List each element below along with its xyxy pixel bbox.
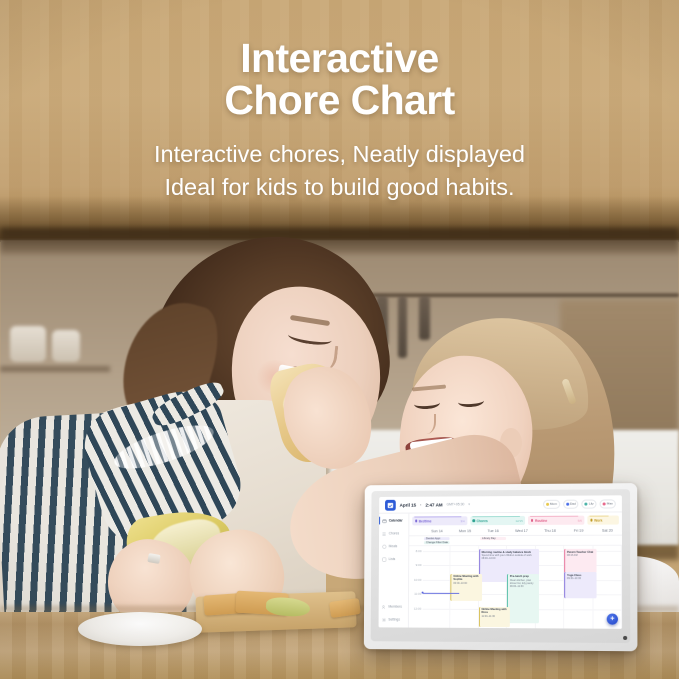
shelf-jar — [10, 326, 46, 362]
event-subtitle: Spend time with your children outside of… — [482, 554, 538, 560]
member-chip-list: MomDadLilyMax — [543, 499, 618, 508]
calendar-icon — [382, 518, 387, 523]
filter-chip-routine[interactable]: Routine5/6 — [528, 516, 584, 525]
sidebar-item-meals[interactable]: Meals — [379, 542, 408, 550]
users-icon — [382, 604, 387, 609]
header-time: 2:47 AM — [425, 502, 442, 507]
chip-label: Chores — [477, 519, 488, 523]
day-column-0[interactable] — [423, 546, 451, 628]
app-header: April 15 · 2:47 AM GMT+05:30 ▾ MomDadLil… — [379, 495, 622, 513]
event-title: Online Meeting with Ross — [481, 608, 508, 615]
member-chip[interactable]: Dad — [563, 499, 579, 508]
member-name: Lily — [589, 502, 594, 506]
chip-count: 5/6 — [578, 518, 582, 522]
header-separator: · — [420, 502, 422, 507]
all-day-cell[interactable] — [564, 536, 593, 545]
filter-chip-row: Bedtime3/4Chores12/15Routine5/6Work — [409, 512, 622, 527]
sidebar-item-label: Chores — [389, 531, 399, 535]
sidebar-item-label: Lists — [389, 557, 396, 561]
header-timezone[interactable]: GMT+05:30 — [447, 502, 465, 506]
all-day-cell[interactable]: Library Day — [479, 536, 507, 545]
event-title: Morning routine & study balance block — [482, 551, 538, 554]
chip-progress-bar — [414, 516, 461, 517]
time-gutter: 8:009:0010:0011:0012:00 — [409, 546, 423, 627]
sidebar-item-label: Members — [388, 605, 401, 609]
calendar-event-1[interactable]: Online Meeting with Sophia09:00–10:00 — [451, 574, 482, 601]
day-header-4[interactable]: Thu 18 — [536, 527, 565, 535]
day-header-5[interactable]: Fri 19 — [564, 527, 593, 535]
hanging-utensil — [419, 296, 430, 340]
calendar-grid[interactable]: 8:009:0010:0011:0012:00 Morning routine … — [409, 546, 622, 629]
day-header-1[interactable]: Mon 15 — [451, 527, 479, 535]
member-color-dot — [546, 502, 549, 505]
member-name: Dad — [570, 502, 576, 506]
day-header-6[interactable]: Sat 20 — [593, 527, 622, 535]
page-subtitle: Interactive chores, Neatly displayed Ide… — [0, 138, 679, 204]
upper-cabinet-band — [0, 228, 679, 254]
chip-color-dot — [472, 519, 475, 522]
all-day-cell[interactable] — [536, 536, 565, 545]
all-day-cell[interactable] — [507, 536, 535, 545]
event-subtitle: 09:30–10:30 — [567, 577, 595, 580]
header-date: April 15 — [400, 502, 416, 507]
chip-count: 3/4 — [460, 519, 464, 523]
all-day-event[interactable]: Library Day — [480, 537, 506, 540]
calendar-event-4[interactable]: Yoga Class09:30–10:30 — [564, 572, 596, 598]
sidebar-item-settings[interactable]: Settings — [379, 615, 408, 623]
calendar-app-icon[interactable] — [385, 499, 396, 510]
member-name: Max — [607, 501, 613, 505]
title-line-1: Interactive — [0, 38, 679, 80]
sidebar-item-lists[interactable]: Lists — [379, 555, 408, 563]
chip-progress-bar — [530, 516, 578, 517]
member-chip[interactable]: Mom — [543, 499, 560, 508]
add-event-button[interactable]: + — [607, 614, 618, 625]
day-header-3[interactable]: Wed 17 — [507, 527, 535, 535]
event-subtitle: 11:00–11:30 — [481, 615, 508, 618]
app-body: CalendarChoresMealsLists MembersSettings… — [379, 512, 623, 628]
gear-icon — [382, 617, 387, 622]
calendar-event-3[interactable]: Parent-Teacher Chat08:15 AM — [564, 549, 596, 573]
plate-icon — [382, 544, 387, 549]
event-subtitle: 08:15 AM — [567, 554, 595, 557]
subtitle-line-2: Ideal for kids to build good habits. — [0, 171, 679, 204]
all-day-cell[interactable] — [593, 536, 622, 545]
promo-image: Interactive Chore Chart Interactive chor… — [0, 0, 679, 679]
filter-chip-work[interactable]: Work — [587, 515, 618, 524]
page-title: Interactive Chore Chart — [0, 38, 679, 122]
member-name: Mom — [550, 502, 557, 506]
all-day-event[interactable]: Change Filter Date — [424, 541, 450, 544]
all-day-event[interactable]: Dentist Appt — [424, 537, 450, 540]
sidebar-nav: CalendarChoresMealsLists — [379, 517, 408, 564]
event-title: Pre-lunch prep — [510, 575, 537, 578]
chip-progress-bar — [589, 516, 608, 517]
day-header-0[interactable]: Sun 14 — [423, 527, 451, 535]
event-subtitle: Clean kitchen, plan dinner list, tidy pa… — [510, 579, 537, 588]
white-plate — [78, 612, 202, 646]
sidebar-item-members[interactable]: Members — [379, 603, 408, 611]
calendar-panel: Bedtime3/4Chores12/15Routine5/6Work Sun … — [409, 512, 622, 628]
subtitle-line-1: Interactive chores, Neatly displayed — [0, 138, 679, 171]
member-chip[interactable]: Lily — [582, 499, 597, 508]
all-day-cell[interactable] — [451, 536, 479, 545]
event-title: Online Meeting with Sophia — [453, 575, 480, 581]
event-title: Yoga Class — [567, 574, 595, 577]
sidebar-item-label: Meals — [389, 544, 398, 548]
sidebar-item-label: Calendar — [389, 519, 403, 523]
sidebar-item-label: Settings — [388, 618, 400, 622]
finger-ring — [147, 553, 160, 564]
all-day-cell[interactable]: Dentist ApptChange Filter Date — [423, 536, 451, 545]
day-columns[interactable]: Morning routine & study balance blockSpe… — [423, 546, 622, 629]
list-icon — [382, 557, 387, 562]
chip-label: Bedtime — [419, 519, 432, 523]
title-line-2: Chore Chart — [0, 80, 679, 122]
day-column-4[interactable] — [536, 546, 565, 629]
member-color-dot — [566, 502, 569, 505]
time-label: 10:00 — [414, 578, 421, 582]
tablet-screen[interactable]: April 15 · 2:47 AM GMT+05:30 ▾ MomDadLil… — [379, 495, 623, 629]
headline-block: Interactive Chore Chart Interactive chor… — [0, 0, 679, 203]
calendar-event-5[interactable]: Online Meeting with Ross11:00–11:30 — [479, 607, 510, 628]
tablet-device: April 15 · 2:47 AM GMT+05:30 ▾ MomDadLil… — [364, 483, 638, 651]
shelf-jar — [52, 330, 80, 362]
filter-chip-bedtime[interactable]: Bedtime3/4 — [412, 516, 467, 525]
hanging-utensil — [398, 296, 407, 358]
chip-label: Work — [594, 518, 602, 522]
chip-progress-bar — [472, 516, 520, 517]
filter-chip-chores[interactable]: Chores12/15 — [470, 516, 525, 525]
camera-sensor-icon — [623, 636, 627, 640]
all-day-row: Dentist ApptChange Filter DateLibrary Da… — [409, 536, 622, 547]
chevron-down-icon[interactable]: ▾ — [468, 502, 470, 506]
wall-shelf — [0, 366, 110, 372]
sidebar: CalendarChoresMealsLists MembersSettings — [379, 514, 410, 628]
day-header-2[interactable]: Tue 16 — [479, 527, 507, 535]
chip-label: Routine — [535, 518, 547, 522]
current-time-indicator — [423, 593, 459, 594]
chip-color-dot — [531, 519, 534, 522]
event-title: Parent-Teacher Chat — [567, 551, 595, 554]
calendar-event-2[interactable]: Pre-lunch prepClean kitchen, plan dinner… — [507, 574, 539, 623]
time-label: 9:00 — [416, 563, 422, 567]
chip-color-dot — [415, 520, 418, 523]
sidebar-item-chores[interactable]: Chores — [379, 529, 408, 537]
sidebar-item-calendar[interactable]: Calendar — [379, 517, 408, 525]
time-label: 8:00 — [416, 549, 422, 553]
event-subtitle: 09:00–10:00 — [453, 582, 480, 585]
chip-count: 12/15 — [515, 518, 523, 522]
chip-color-dot — [590, 519, 593, 522]
member-color-dot — [603, 502, 606, 505]
member-color-dot — [585, 502, 588, 505]
sidebar-nav-bottom: MembersSettings — [379, 603, 408, 628]
time-label: 12:00 — [414, 606, 421, 610]
member-chip[interactable]: Max — [600, 499, 616, 508]
check-list-icon — [382, 531, 387, 536]
time-label: 11:00 — [414, 592, 421, 596]
